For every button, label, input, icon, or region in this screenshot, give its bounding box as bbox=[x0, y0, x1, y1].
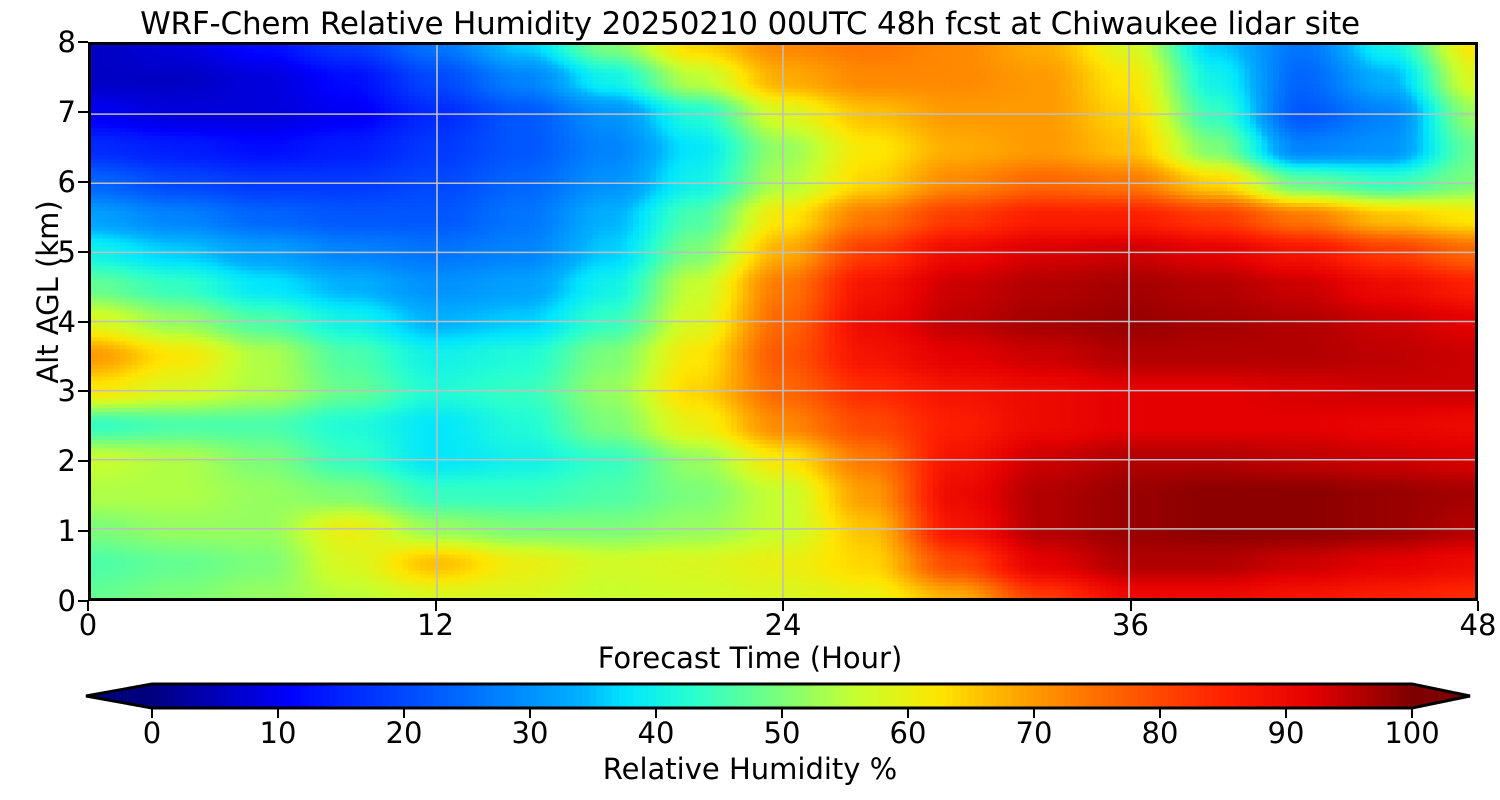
y-tick-mark bbox=[78, 41, 88, 43]
relative-humidity-field bbox=[91, 45, 1475, 598]
colorbar-tick-label: 0 bbox=[143, 716, 161, 750]
x-tick-mark bbox=[87, 601, 89, 611]
x-tick-mark bbox=[1130, 601, 1132, 611]
y-tick-mark bbox=[78, 460, 88, 462]
colorbar-tick-label: 40 bbox=[638, 716, 675, 750]
colorbar-label: Relative Humidity % bbox=[0, 752, 1500, 786]
colorbar-tick-label: 60 bbox=[890, 716, 927, 750]
x-tick-label: 48 bbox=[1460, 608, 1497, 642]
x-tick-label: 36 bbox=[1112, 608, 1149, 642]
colorbar-tick-label: 10 bbox=[260, 716, 297, 750]
y-tick-mark bbox=[78, 390, 88, 392]
colorbar-tick-label: 80 bbox=[1142, 716, 1179, 750]
colorbar-tick-label: 30 bbox=[512, 716, 549, 750]
x-tick-mark bbox=[782, 601, 784, 611]
y-axis-label: Alt AGL (km) bbox=[31, 12, 65, 572]
colorbar-tick-label: 20 bbox=[386, 716, 423, 750]
x-tick-label: 24 bbox=[765, 608, 802, 642]
y-tick-label: 0 bbox=[58, 584, 76, 618]
colorbar-tick-label: 90 bbox=[1268, 716, 1305, 750]
y-tick-mark bbox=[78, 181, 88, 183]
figure-canvas: WRF-Chem Relative Humidity 20250210 00UT… bbox=[0, 0, 1500, 800]
x-tick-mark bbox=[435, 601, 437, 611]
y-tick-mark bbox=[78, 251, 88, 253]
y-tick-mark bbox=[78, 321, 88, 323]
x-tick-label: 0 bbox=[79, 608, 97, 642]
colorbar-group: 0102030405060708090100 Relative Humidity… bbox=[0, 680, 1500, 800]
colorbar-tick-label: 100 bbox=[1384, 716, 1439, 750]
colorbar-tick-label: 50 bbox=[764, 716, 801, 750]
y-tick-mark bbox=[78, 111, 88, 113]
colorbar-tick-label: 70 bbox=[1016, 716, 1053, 750]
y-tick-mark bbox=[78, 530, 88, 532]
x-tick-label: 12 bbox=[417, 608, 454, 642]
page-title: WRF-Chem Relative Humidity 20250210 00UT… bbox=[0, 6, 1500, 42]
x-axis-label: Forecast Time (Hour) bbox=[0, 641, 1500, 675]
x-tick-mark bbox=[1477, 601, 1479, 611]
contour-plot-axes bbox=[88, 42, 1478, 601]
